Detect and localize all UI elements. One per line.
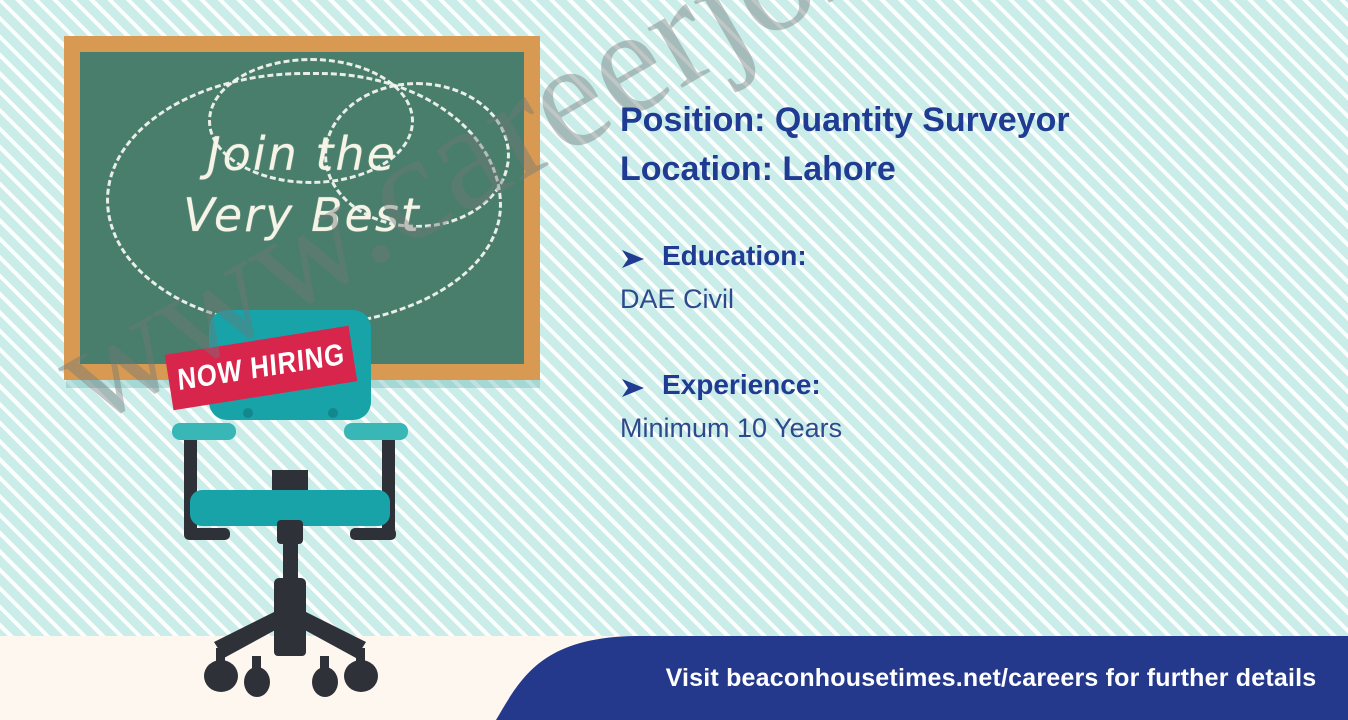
job-details: Position: Quantity Surveyor Location: La… — [620, 96, 1260, 444]
position-line: Position: Quantity Surveyor — [620, 96, 1260, 145]
experience-value: Minimum 10 Years — [620, 413, 1260, 444]
footer-label: Visit beaconhousetimes.net/careers for f… — [634, 636, 1348, 720]
arrow-right-icon — [620, 245, 646, 267]
experience-section: Experience: Minimum 10 Years — [620, 369, 1260, 444]
experience-label: Experience: — [662, 369, 821, 401]
education-heading: Education: — [620, 240, 1260, 272]
education-value: DAE Civil — [620, 284, 1260, 315]
arrow-right-icon — [620, 374, 646, 396]
job-poster: Join the Very Best — [0, 0, 1348, 720]
footer-banner: Visit beaconhousetimes.net/careers for f… — [0, 636, 1348, 720]
education-label: Education: — [662, 240, 807, 272]
experience-heading: Experience: — [620, 369, 1260, 401]
education-section: Education: DAE Civil — [620, 240, 1260, 315]
location-line: Location: Lahore — [620, 145, 1260, 194]
